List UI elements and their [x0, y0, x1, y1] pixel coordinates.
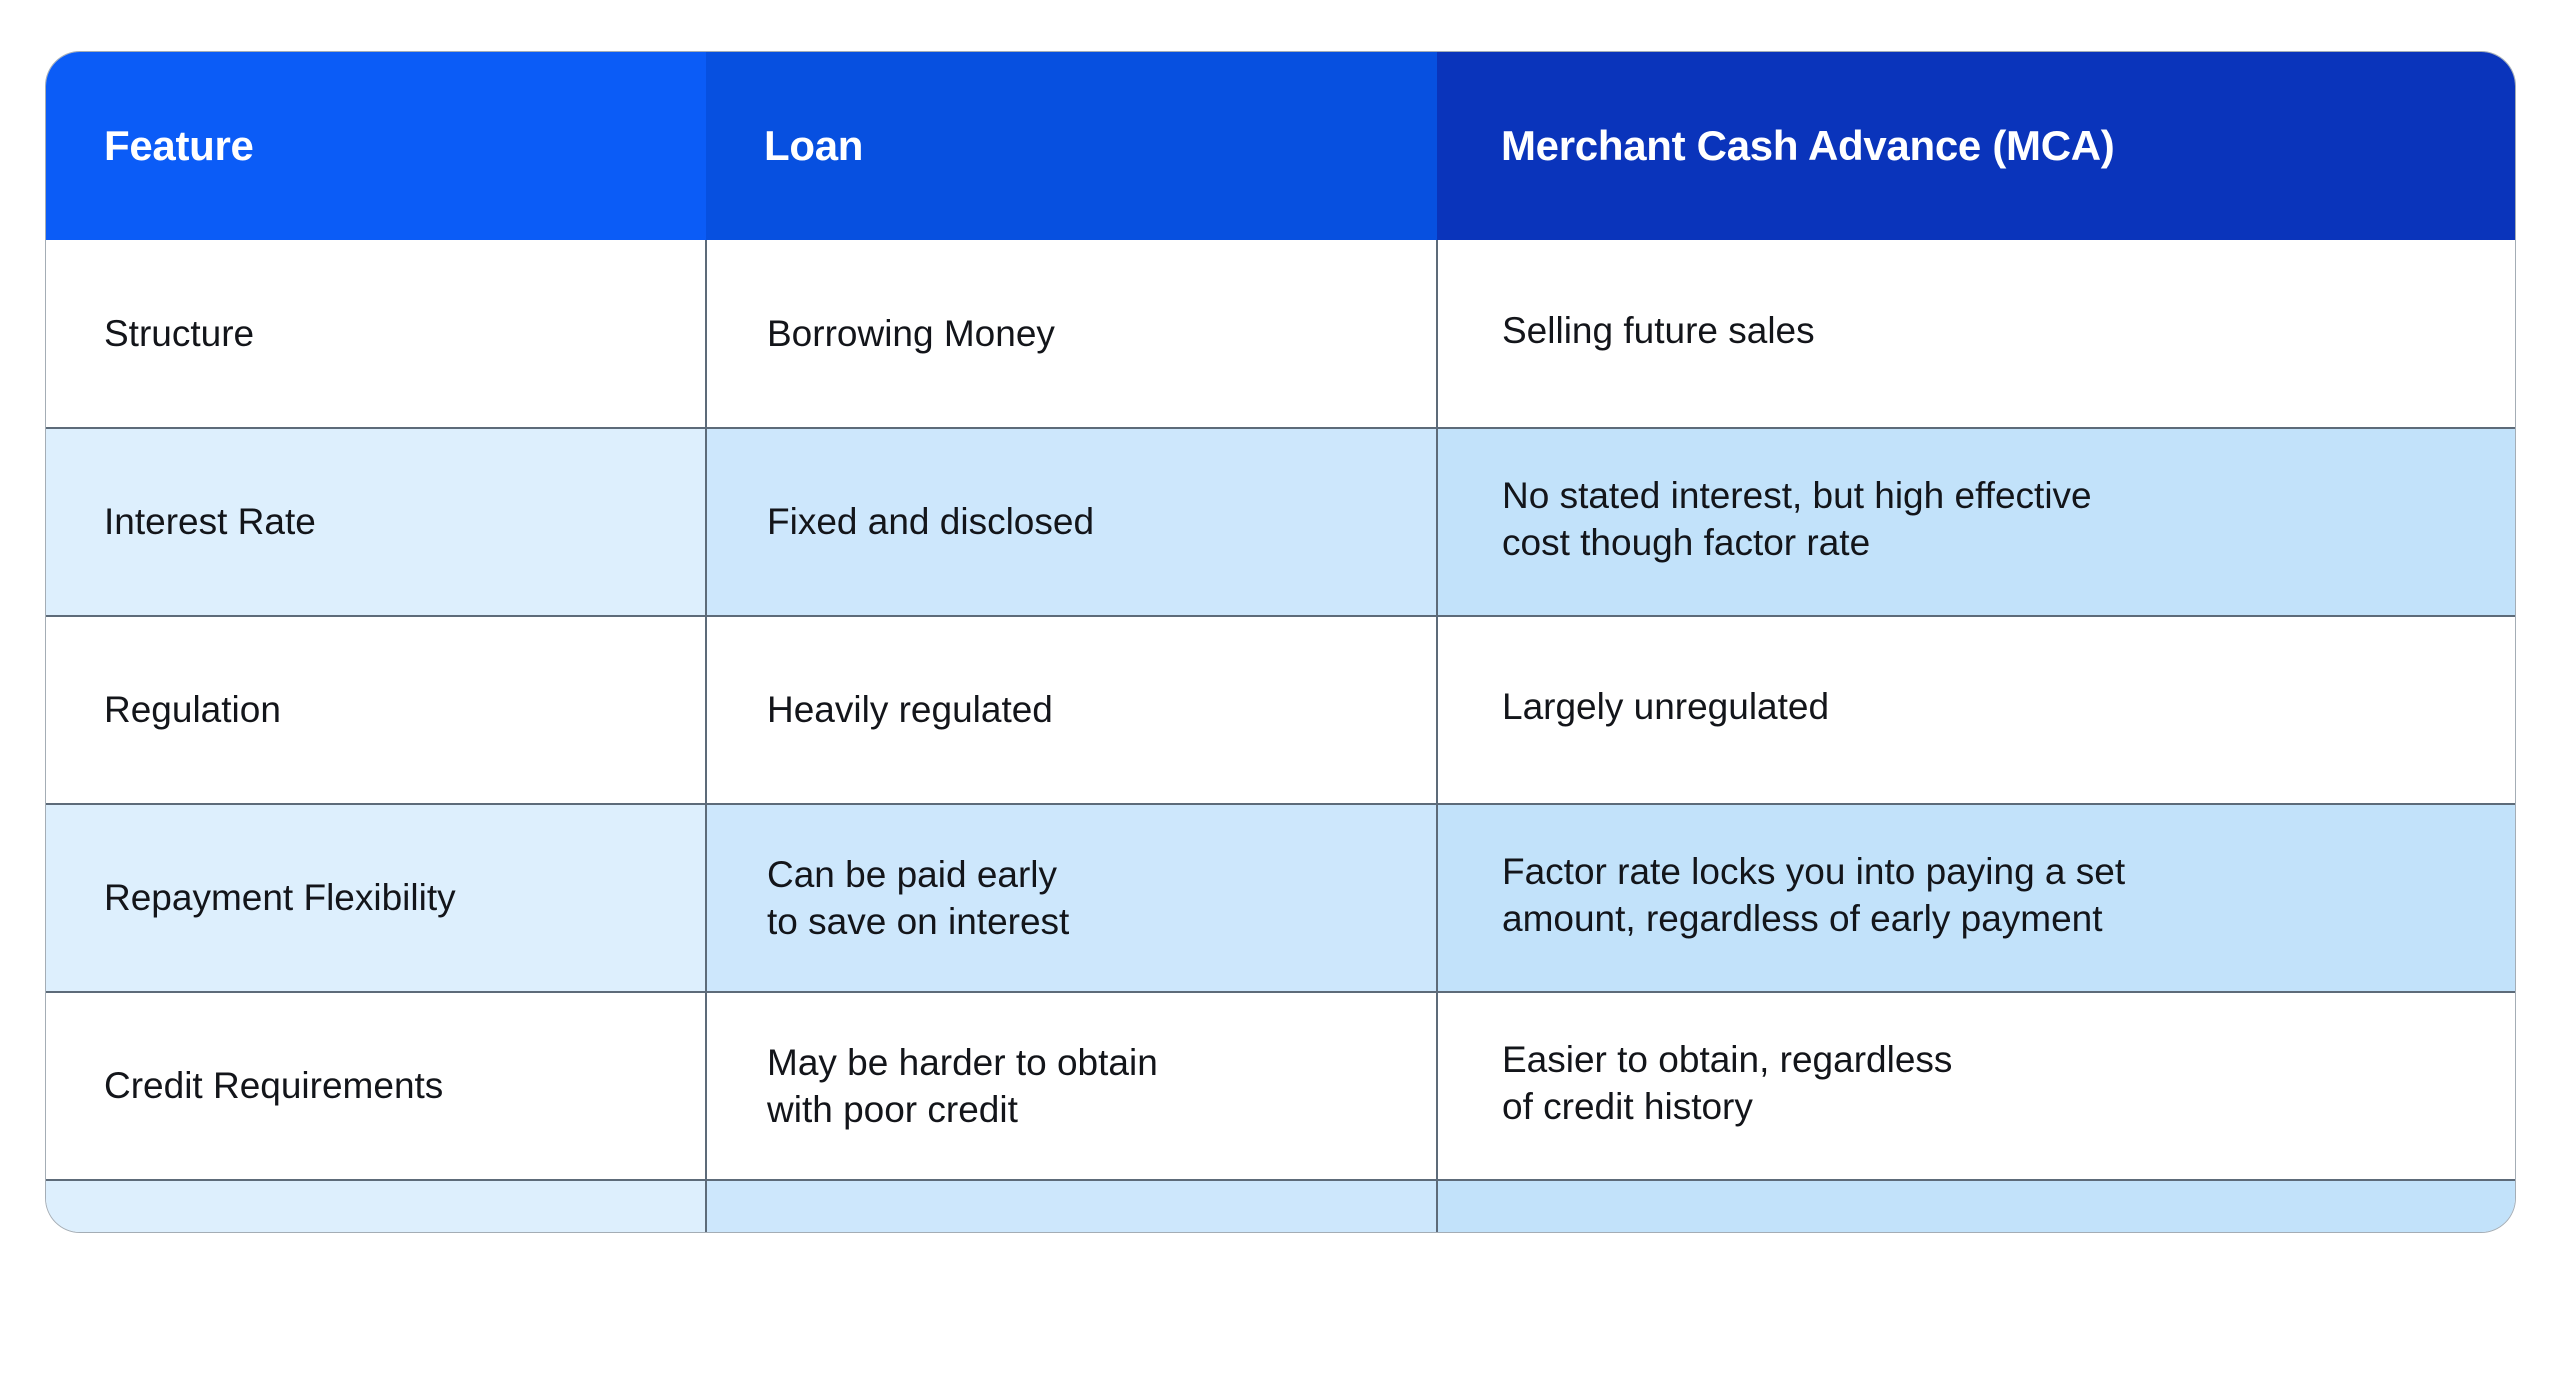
table-row: Interest Rate Fixed and disclosed No sta… [46, 428, 2515, 616]
cell-mca-text: Factor rate locks you into paying a set … [1502, 848, 2514, 943]
cell-loan: Can be paid early to save on interest [706, 804, 1437, 992]
cell-loan: Heavily regulated [706, 616, 1437, 804]
cell-feature-text: Structure [104, 310, 704, 357]
cell-mca-text: Selling future sales [1502, 307, 2514, 354]
cell-feature: Interest Rate [46, 428, 706, 616]
table-row: Credit Requirements May be harder to obt… [46, 992, 2515, 1180]
cell-mca-text: Easier to obtain, regardless of credit h… [1502, 1036, 2514, 1131]
cell-mca: Largely unregulated [1437, 616, 2515, 804]
column-header-mca: Merchant Cash Advance (MCA) [1437, 52, 2515, 240]
cell-mca: Selling future sales [1437, 240, 2515, 428]
loan-vs-mca-comparison-table: Feature Loan Merchant Cash Advance (MCA)… [46, 52, 2515, 1232]
cell-loan-text: Heavily regulated [767, 686, 1435, 733]
cell-feature-text: Interest Rate [104, 498, 704, 545]
cell-feature: Structure [46, 240, 706, 428]
comparison-table-page: Feature Loan Merchant Cash Advance (MCA)… [0, 0, 2560, 1390]
cell-mca-text: Largely unregulated [1502, 683, 2514, 730]
cell-feature: Hidden Fees [46, 1180, 706, 1232]
table-row: Repayment Flexibility Can be paid early … [46, 804, 2515, 992]
column-header-loan: Loan [706, 52, 1437, 240]
cell-loan: Borrowing Money [706, 240, 1437, 428]
cell-loan-text: Fixed and disclosed [767, 498, 1435, 545]
cell-mca: Easier to obtain, regardless of credit h… [1437, 992, 2515, 1180]
table-row: Hidden Fees Typically lower Can have num… [46, 1180, 2515, 1232]
cell-feature: Repayment Flexibility [46, 804, 706, 992]
cell-loan: Fixed and disclosed [706, 428, 1437, 616]
table-body: Structure Borrowing Money Selling future… [46, 240, 2515, 1232]
column-header-loan-label: Loan [764, 122, 1437, 170]
cell-loan: Typically lower [706, 1180, 1437, 1232]
column-header-feature-label: Feature [104, 122, 706, 170]
cell-feature-text: Credit Requirements [104, 1062, 704, 1109]
cell-feature-text: Repayment Flexibility [104, 874, 704, 921]
cell-loan-text: Can be paid early to save on interest [767, 851, 1435, 946]
cell-mca-text: No stated interest, but high effective c… [1502, 472, 2514, 567]
cell-feature: Credit Requirements [46, 992, 706, 1180]
cell-loan-text: May be harder to obtain with poor credit [767, 1039, 1435, 1134]
column-header-feature: Feature [46, 52, 706, 240]
cell-loan-text: Borrowing Money [767, 310, 1435, 357]
cell-loan: May be harder to obtain with poor credit [706, 992, 1437, 1180]
table-row: Structure Borrowing Money Selling future… [46, 240, 2515, 428]
column-header-mca-label: Merchant Cash Advance (MCA) [1501, 122, 2515, 170]
cell-mca: No stated interest, but high effective c… [1437, 428, 2515, 616]
table-header-row: Feature Loan Merchant Cash Advance (MCA) [46, 52, 2515, 240]
table-row: Regulation Heavily regulated Largely unr… [46, 616, 2515, 804]
comparison-table-container: Feature Loan Merchant Cash Advance (MCA)… [46, 52, 2515, 1232]
cell-mca-text: Can have numerous hidden fees and admini… [1502, 1224, 2514, 1232]
cell-mca: Factor rate locks you into paying a set … [1437, 804, 2515, 992]
cell-feature-text: Regulation [104, 686, 704, 733]
cell-feature: Regulation [46, 616, 706, 804]
cell-mca: Can have numerous hidden fees and admini… [1437, 1180, 2515, 1232]
table-header: Feature Loan Merchant Cash Advance (MCA) [46, 52, 2515, 240]
